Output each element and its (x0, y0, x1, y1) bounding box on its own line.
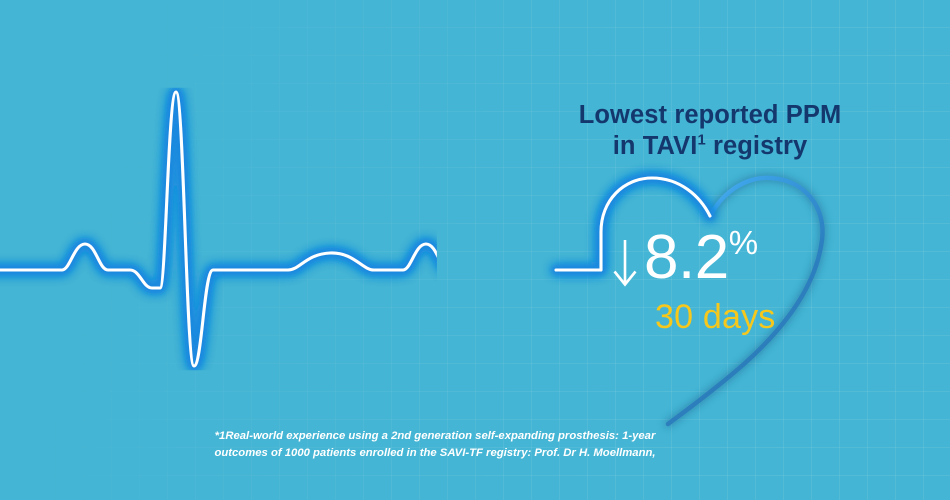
headline-line-2-suffix: registry (706, 132, 808, 160)
stat-period: 30 days (655, 298, 775, 337)
footnote: *1Real-world experience using a 2nd gene… (95, 428, 775, 461)
headline-line-2-prefix: in TAVI (613, 132, 698, 160)
status-badge: 8.2% (612, 232, 862, 292)
infographic-canvas: Lowest reported PPM in TAVI1 registry 8.… (0, 0, 950, 500)
stat-value: 8.2 (644, 223, 729, 292)
footnote-line-2: outcomes of 1000 patients enrolled in th… (214, 447, 655, 459)
arrow-down-icon (612, 238, 638, 288)
stat-value-group: 8.2% (644, 226, 758, 289)
page-title: Lowest reported PPM in TAVI1 registry (500, 100, 920, 162)
footnote-marker: *1 (215, 430, 226, 442)
footnote-line-1: Real-world experience using a 2nd genera… (225, 430, 655, 442)
headline-line-1: Lowest reported PPM (500, 100, 920, 131)
headline-footnote-marker: 1 (697, 133, 705, 149)
stat-unit: % (729, 224, 758, 261)
headline-line-2: in TAVI1 registry (500, 131, 920, 162)
